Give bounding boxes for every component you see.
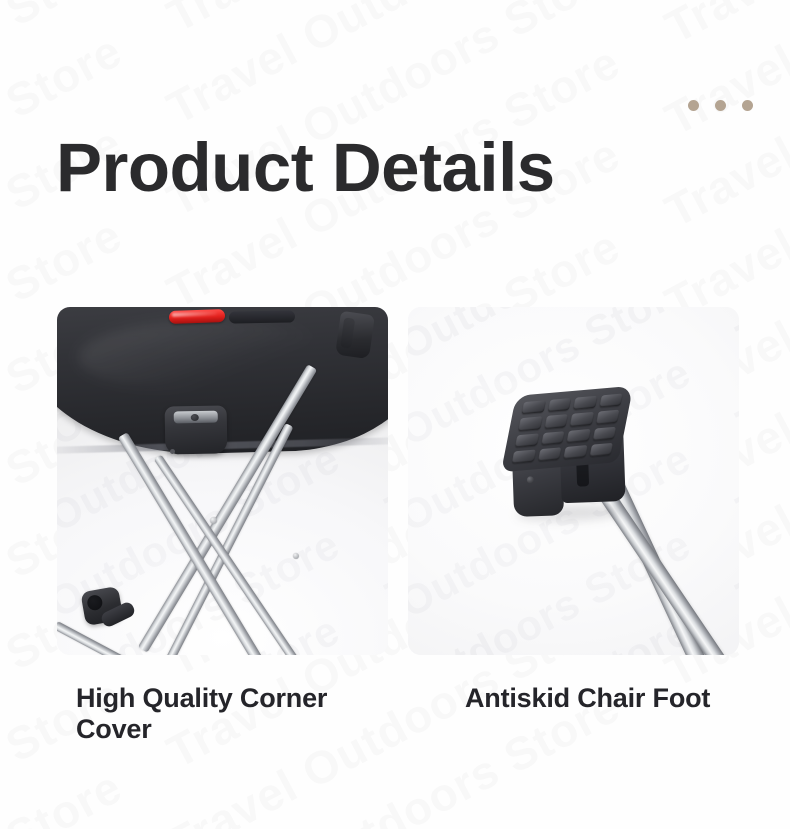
red-strap-accent	[169, 309, 225, 324]
antiskid-foot-cap	[506, 387, 630, 521]
leg-cross-pin-2	[293, 553, 299, 559]
fabric-highlight	[77, 316, 327, 393]
dot-icon-1	[688, 100, 699, 111]
product-details-page: Travel Outdoors StoreTravel Outdoors Sto…	[0, 0, 790, 829]
decorative-dots	[688, 100, 753, 111]
dot-icon-2	[715, 100, 726, 111]
tread-grid	[512, 394, 623, 464]
antiskid-foot-illustration: Travel Outdoors StoreTravel Outdoors Sto…	[408, 307, 739, 655]
caption-antiskid-foot: Antiskid Chair Foot	[408, 683, 739, 714]
corner-cover-rivet	[170, 449, 175, 454]
caption-corner-cover: High Quality Corner Cover	[57, 683, 388, 745]
page-title: Product Details	[56, 133, 555, 202]
leg-cross-pin-1	[210, 517, 217, 524]
feature-cards-row: Travel Outdoors StoreTravel Outdoors Sto…	[57, 307, 735, 745]
foot-cap-tread-surface	[501, 386, 633, 473]
feature-card-corner-cover[interactable]: Travel Outdoors StoreTravel Outdoors Sto…	[57, 307, 388, 745]
chair-corner-illustration: Travel Outdoors StoreTravel Outdoors Sto…	[57, 307, 388, 655]
corner-cover-photo: Travel Outdoors StoreTravel Outdoors Sto…	[57, 307, 388, 655]
seat-tab	[229, 310, 295, 323]
corner-cover-part	[165, 405, 228, 454]
feature-card-antiskid-foot[interactable]: Travel Outdoors StoreTravel Outdoors Sto…	[408, 307, 739, 745]
dot-icon-3	[742, 100, 753, 111]
antiskid-foot-photo: Travel Outdoors StoreTravel Outdoors Sto…	[408, 307, 739, 655]
top-corner-bracket	[335, 311, 375, 359]
